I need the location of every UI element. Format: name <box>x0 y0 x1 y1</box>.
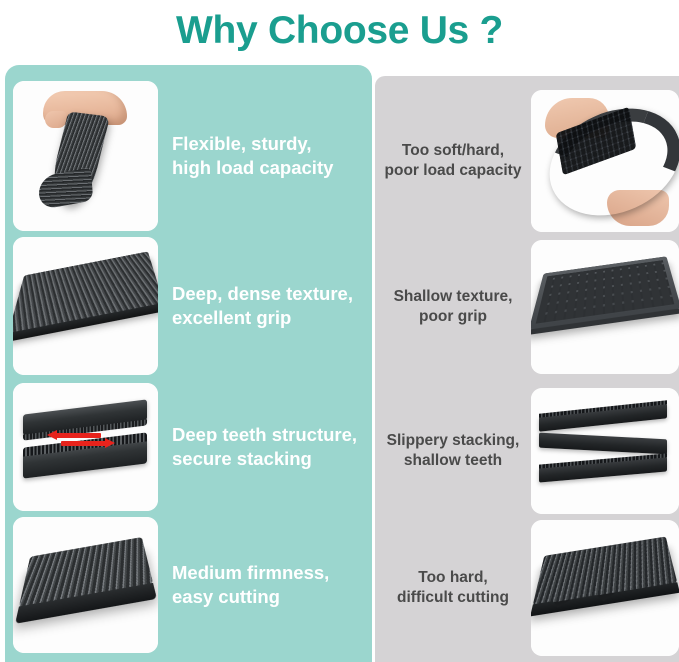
comparison-row-bad-2: Shallow texture, poor grip <box>375 240 679 374</box>
two-mats-interlocking-stack-with-red-arrow-icon <box>13 383 158 511</box>
drawback-line-2: difficult cutting <box>377 588 529 608</box>
page-title: Why Choose Us ? <box>0 0 679 62</box>
drawback-text: Shallow texture, poor grip <box>375 287 531 327</box>
drawback-text: Too hard, difficult cutting <box>375 568 531 608</box>
keyboard-shallow-block-texture-icon <box>531 240 679 374</box>
competitor-image-card <box>531 388 679 514</box>
hard-ribbed-mat-with-torn-cut-edge-icon <box>531 520 679 656</box>
feature-line-2: excellent grip <box>172 306 353 330</box>
feature-text: Flexible, sturdy, high load capacity <box>158 132 339 179</box>
feature-line-2: easy cutting <box>172 585 329 609</box>
drawback-line-1: Too hard, <box>377 568 529 588</box>
drawback-line-1: Shallow texture, <box>377 287 529 307</box>
drawback-text: Too soft/hard, poor load capacity <box>375 141 531 181</box>
comparison-row-bad-4: Too hard, difficult cutting <box>375 520 679 656</box>
comparison-row-good-3: Deep teeth structure, secure stacking <box>13 383 373 511</box>
hand-bending-floppy-keyboard-mat-icon <box>531 90 679 232</box>
feature-text: Medium firmness, easy cutting <box>158 561 335 608</box>
three-thin-slabs-slipping-apart-icon <box>531 388 679 514</box>
feature-line-1: Deep teeth structure, <box>172 423 357 447</box>
red-arrow-icon <box>47 431 115 449</box>
thick-ribbed-mat-block-icon <box>13 517 158 653</box>
drawback-line-2: shallow teeth <box>377 451 529 471</box>
product-image-card <box>13 383 158 511</box>
feature-text: Deep teeth structure, secure stacking <box>158 423 363 470</box>
drawback-line-1: Too soft/hard, <box>377 141 529 161</box>
product-image-card <box>13 237 158 375</box>
drawback-line-2: poor grip <box>377 307 529 327</box>
feature-line-1: Deep, dense texture, <box>172 282 353 306</box>
hand-bending-flexible-ribbed-mat-icon <box>13 81 158 231</box>
deep-ribbed-mat-surface-icon <box>13 237 158 375</box>
product-image-card <box>13 517 158 653</box>
feature-line-1: Medium firmness, <box>172 561 329 585</box>
feature-line-1: Flexible, sturdy, <box>172 132 333 156</box>
drawback-line-2: poor load capacity <box>377 161 529 181</box>
feature-line-2: high load capacity <box>172 156 333 180</box>
feature-text: Deep, dense texture, excellent grip <box>158 282 359 329</box>
comparison-row-good-1: Flexible, sturdy, high load capacity <box>13 81 373 231</box>
feature-line-2: secure stacking <box>172 447 357 471</box>
competitor-product-panel: Too soft/hard, poor load capacity Shallo… <box>375 76 679 662</box>
comparison-row-bad-1: Too soft/hard, poor load capacity <box>375 90 679 232</box>
our-product-panel: Flexible, sturdy, high load capacity Dee… <box>5 65 372 662</box>
product-image-card <box>13 81 158 231</box>
competitor-image-card <box>531 90 679 232</box>
comparison-row-bad-3: Slippery stacking, shallow teeth <box>375 388 679 514</box>
comparison-row-good-4: Medium firmness, easy cutting <box>13 517 373 653</box>
competitor-image-card <box>531 240 679 374</box>
comparison-row-good-2: Deep, dense texture, excellent grip <box>13 237 373 375</box>
drawback-text: Slippery stacking, shallow teeth <box>375 431 531 471</box>
competitor-image-card <box>531 520 679 656</box>
drawback-line-1: Slippery stacking, <box>377 431 529 451</box>
